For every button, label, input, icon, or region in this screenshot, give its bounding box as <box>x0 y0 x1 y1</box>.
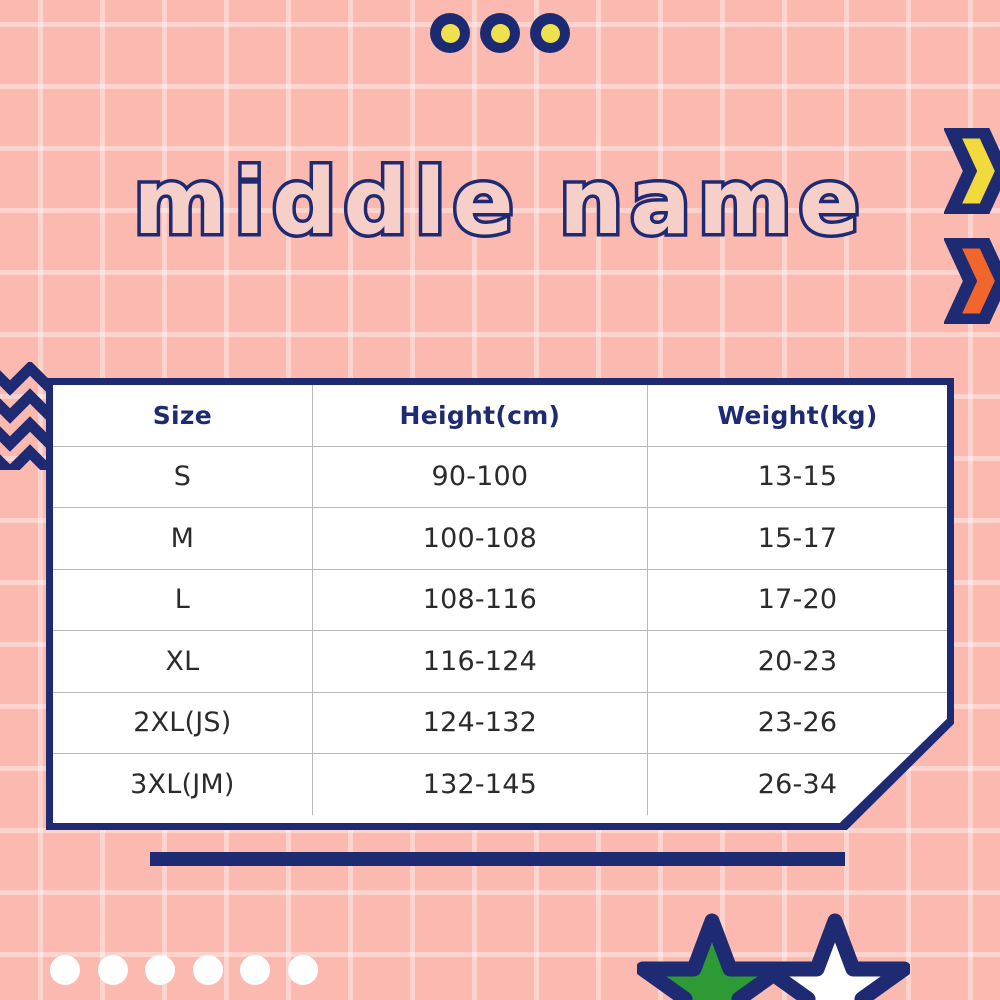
white-dot-icon <box>193 955 223 985</box>
cell-weight: 13-15 <box>648 446 948 508</box>
table-row: 2XL(JS) 124-132 23-26 <box>53 692 947 754</box>
circle-dot-icon <box>530 13 570 53</box>
cell-weight: 20-23 <box>648 631 948 693</box>
circle-dot-icon <box>480 13 520 53</box>
cell-height: 108-116 <box>312 569 647 631</box>
column-header-size: Size <box>53 385 312 446</box>
white-dot-icon <box>240 955 270 985</box>
star-white-icon <box>760 912 910 1000</box>
chevron-right-orange-icon <box>944 238 1000 324</box>
cell-height: 90-100 <box>312 446 647 508</box>
white-dot-icon <box>98 955 128 985</box>
underline-bar <box>150 852 845 866</box>
cell-weight: 15-17 <box>648 508 948 570</box>
cell-height: 116-124 <box>312 631 647 693</box>
size-chart-graphic: middle name Size Height(cm) Weight(kg <box>0 0 1000 1000</box>
cell-weight: 17-20 <box>648 569 948 631</box>
cell-weight: 23-26 <box>648 692 948 754</box>
cell-size: 3XL(JM) <box>53 754 312 815</box>
bottom-dot-row <box>50 953 318 987</box>
size-table: Size Height(cm) Weight(kg) S 90-100 13-1… <box>53 385 947 815</box>
size-table-surface: Size Height(cm) Weight(kg) S 90-100 13-1… <box>53 385 947 823</box>
cell-height: 124-132 <box>312 692 647 754</box>
circle-dot-icon <box>430 13 470 53</box>
cell-size: XL <box>53 631 312 693</box>
size-table-container: Size Height(cm) Weight(kg) S 90-100 13-1… <box>46 378 954 830</box>
table-row: XL 116-124 20-23 <box>53 631 947 693</box>
column-header-weight: Weight(kg) <box>648 385 948 446</box>
page-title: middle name <box>0 158 1000 248</box>
cell-height: 132-145 <box>312 754 647 815</box>
white-dot-icon <box>288 955 318 985</box>
cell-size: L <box>53 569 312 631</box>
table-row: S 90-100 13-15 <box>53 446 947 508</box>
top-dot-row <box>430 10 570 56</box>
chevron-right-yellow-icon <box>944 128 1000 214</box>
table-row: L 108-116 17-20 <box>53 569 947 631</box>
white-dot-icon <box>50 955 80 985</box>
cell-height: 100-108 <box>312 508 647 570</box>
table-row: 3XL(JM) 132-145 26-34 <box>53 754 947 815</box>
table-header-row: Size Height(cm) Weight(kg) <box>53 385 947 446</box>
column-header-height: Height(cm) <box>312 385 647 446</box>
table-row: M 100-108 15-17 <box>53 508 947 570</box>
cell-size: S <box>53 446 312 508</box>
white-dot-icon <box>145 955 175 985</box>
cell-size: M <box>53 508 312 570</box>
cell-size: 2XL(JS) <box>53 692 312 754</box>
